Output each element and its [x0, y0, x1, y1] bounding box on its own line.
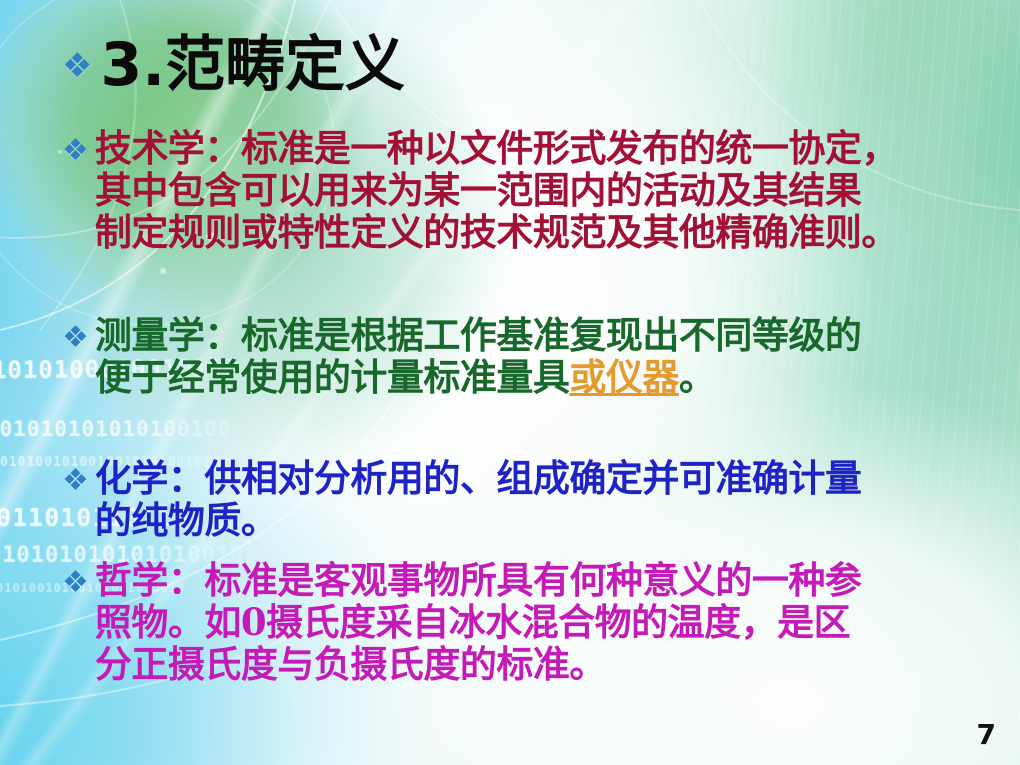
- diamond-bullet-icon: ❖: [62, 323, 89, 353]
- paragraph-metrology: ❖ 测量学：标准是根据工作基准复现出不同等级的 便于经常使用的计量标准量具或仪器…: [62, 315, 861, 399]
- slide-title: ❖ 3.范畴定义: [62, 34, 405, 97]
- paragraph-philosophy: ❖ 哲学：标准是客观事物所具有何种意义的一种参 照物。如0摄氏度采自冰水混合物的…: [62, 560, 861, 685]
- diamond-bullet-icon: ❖: [62, 568, 89, 598]
- paragraph-technology: ❖ 技术学：标准是一种以文件形式发布的统一协定， 其中包含可以用来为某一范围内的…: [62, 128, 898, 253]
- diamond-bullet-icon: ❖: [62, 466, 89, 496]
- slide-canvas: 1010100010010100100 101010101010100100 0…: [0, 0, 1020, 765]
- paragraph-metrology-text: 测量学：标准是根据工作基准复现出不同等级的 便于经常使用的计量标准量具或仪器。: [95, 315, 862, 399]
- slide-content: ❖ 3.范畴定义 ❖ 技术学：标准是一种以文件形式发布的统一协定， 其中包含可以…: [0, 0, 1020, 765]
- page-number: 7: [977, 718, 996, 751]
- metrology-text-after-link: 。: [679, 355, 716, 399]
- diamond-bullet-icon: ❖: [62, 136, 89, 166]
- page-title: 3.范畴定义: [100, 34, 405, 97]
- paragraph-philosophy-text: 哲学：标准是客观事物所具有何种意义的一种参 照物。如0摄氏度采自冰水混合物的温度…: [95, 560, 862, 685]
- paragraph-chemistry: ❖ 化学：供相对分析用的、组成确定并可准确计量 的纯物质。: [62, 458, 861, 542]
- paragraph-technology-text: 技术学：标准是一种以文件形式发布的统一协定， 其中包含可以用来为某一范围内的活动…: [95, 128, 898, 253]
- diamond-bullet-icon: ❖: [62, 49, 92, 83]
- hyperlink-instrument[interactable]: 或仪器: [569, 355, 679, 399]
- metrology-text-before-link: 测量学：标准是根据工作基准复现出不同等级的 便于经常使用的计量标准量具: [95, 313, 862, 399]
- paragraph-chemistry-text: 化学：供相对分析用的、组成确定并可准确计量 的纯物质。: [95, 458, 862, 542]
- philosophy-bold-zero: 0: [241, 600, 266, 644]
